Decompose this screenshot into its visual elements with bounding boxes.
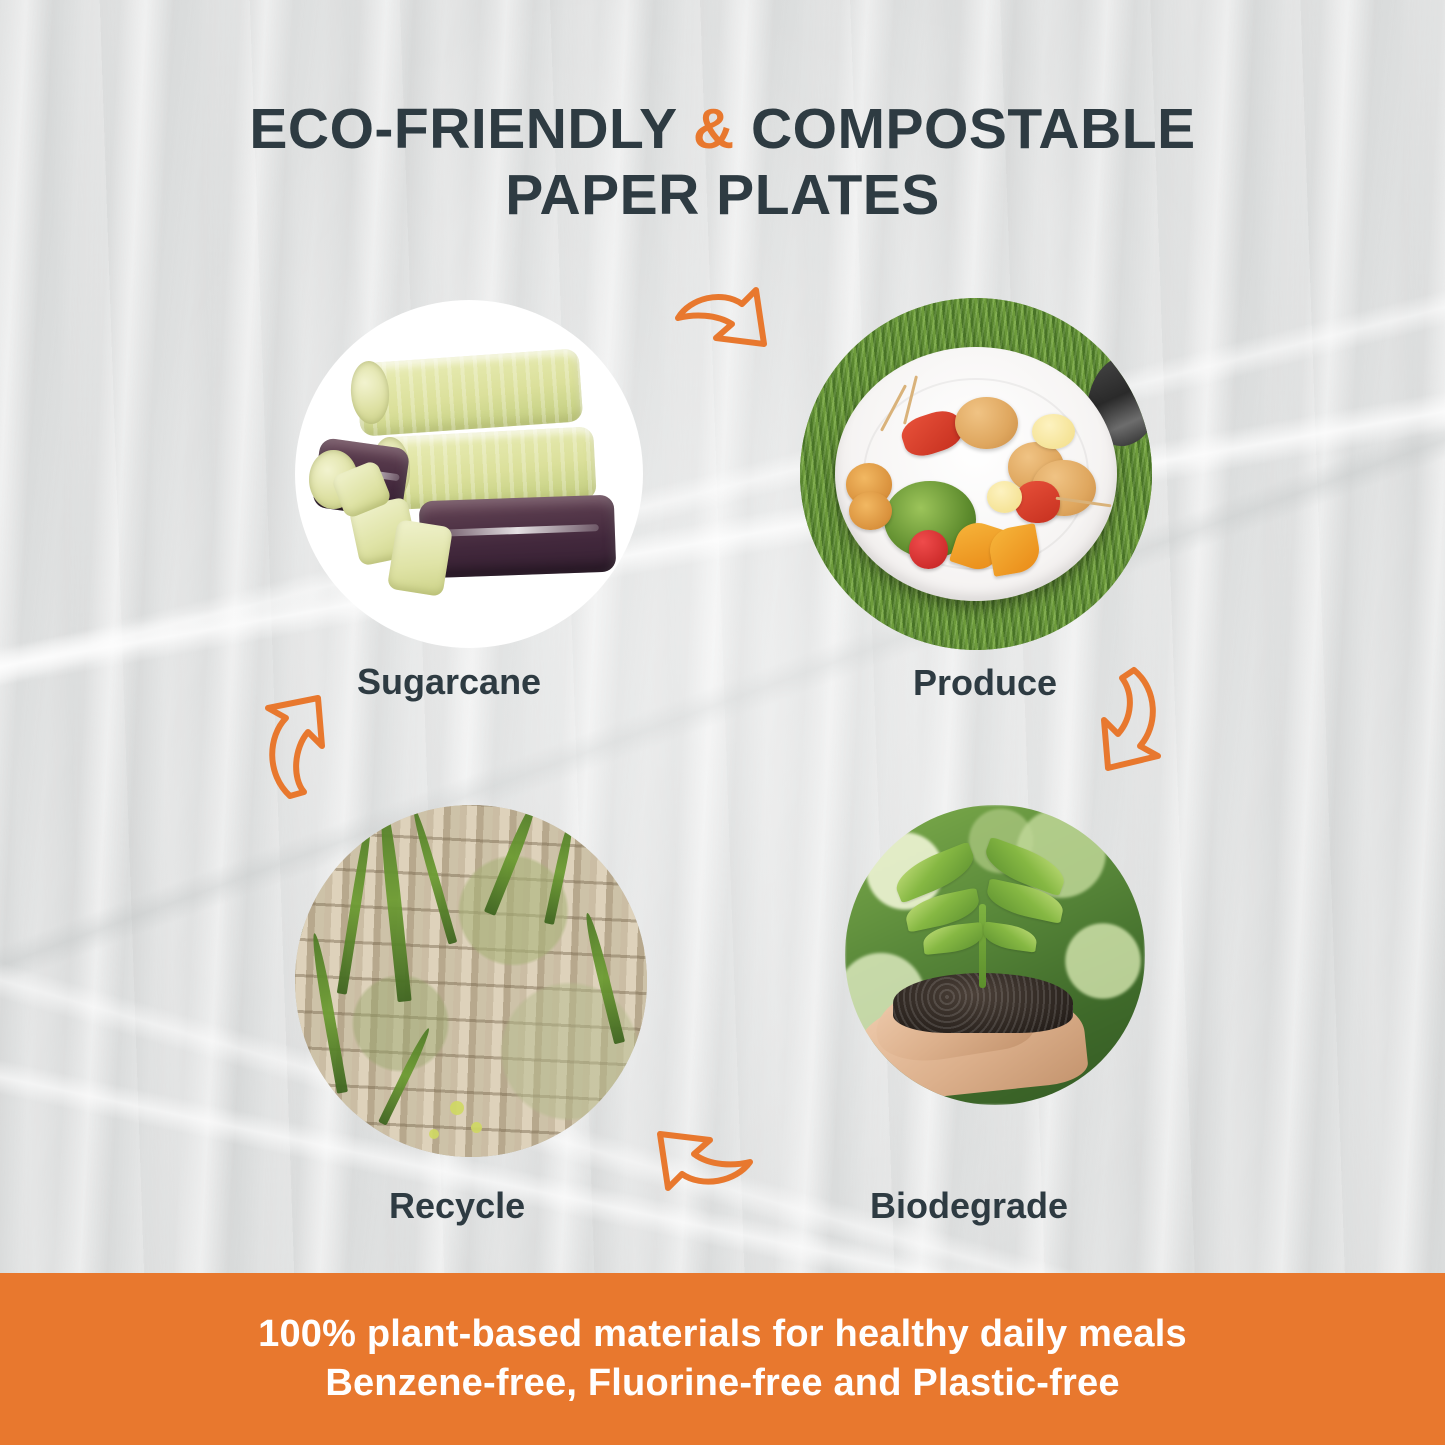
curved-arrow-down-icon bbox=[1082, 664, 1172, 774]
cycle-image-recycle bbox=[295, 805, 647, 1157]
cycle-image-sugarcane bbox=[295, 300, 643, 648]
sugarcane-illustration bbox=[295, 300, 643, 648]
curved-arrow-up-icon bbox=[256, 692, 346, 802]
title-line1-part2: COMPOSTABLE bbox=[735, 97, 1196, 161]
cycle-label-biodegrade: Biodegrade bbox=[870, 1185, 1068, 1227]
food-egg bbox=[1032, 414, 1074, 449]
food-bun-a bbox=[955, 397, 1018, 450]
cane-blossom-b bbox=[471, 1122, 482, 1133]
cane-stalk-top bbox=[355, 348, 582, 436]
cycle-label-sugarcane: Sugarcane bbox=[357, 661, 541, 703]
cane-chunk-b bbox=[387, 519, 453, 596]
cycle-image-produce bbox=[800, 298, 1152, 650]
food-strawberry bbox=[909, 530, 948, 569]
bottom-banner: 100% plant-based materials for healthy d… bbox=[0, 1273, 1445, 1445]
title-ampersand: & bbox=[693, 97, 735, 161]
page-title: ECO-FRIENDLY & COMPOSTABLE PAPER PLATES bbox=[0, 96, 1445, 228]
cane-blossom-c bbox=[429, 1129, 439, 1139]
cane-blossom-a bbox=[450, 1101, 464, 1115]
cycle-label-produce: Produce bbox=[913, 662, 1057, 704]
banner-line-1: 100% plant-based materials for healthy d… bbox=[258, 1310, 1187, 1359]
seedling-stem bbox=[979, 904, 986, 988]
curved-arrow-left-icon bbox=[648, 1118, 758, 1198]
banner-line-2: Benzene-free, Fluorine-free and Plastic-… bbox=[325, 1359, 1119, 1408]
food-sauce bbox=[987, 481, 1022, 513]
food-tomato-b bbox=[1015, 481, 1061, 523]
cycle-label-recycle: Recycle bbox=[389, 1185, 525, 1227]
curved-arrow-right-icon bbox=[672, 282, 782, 362]
cycle-image-biodegrade bbox=[845, 805, 1145, 1105]
infographic-canvas: ECO-FRIENDLY & COMPOSTABLE PAPER PLATES … bbox=[0, 0, 1445, 1445]
title-line1-part1: ECO-FRIENDLY bbox=[249, 97, 693, 161]
title-line2: PAPER PLATES bbox=[0, 162, 1445, 228]
food-onion-ring-b bbox=[849, 492, 891, 531]
